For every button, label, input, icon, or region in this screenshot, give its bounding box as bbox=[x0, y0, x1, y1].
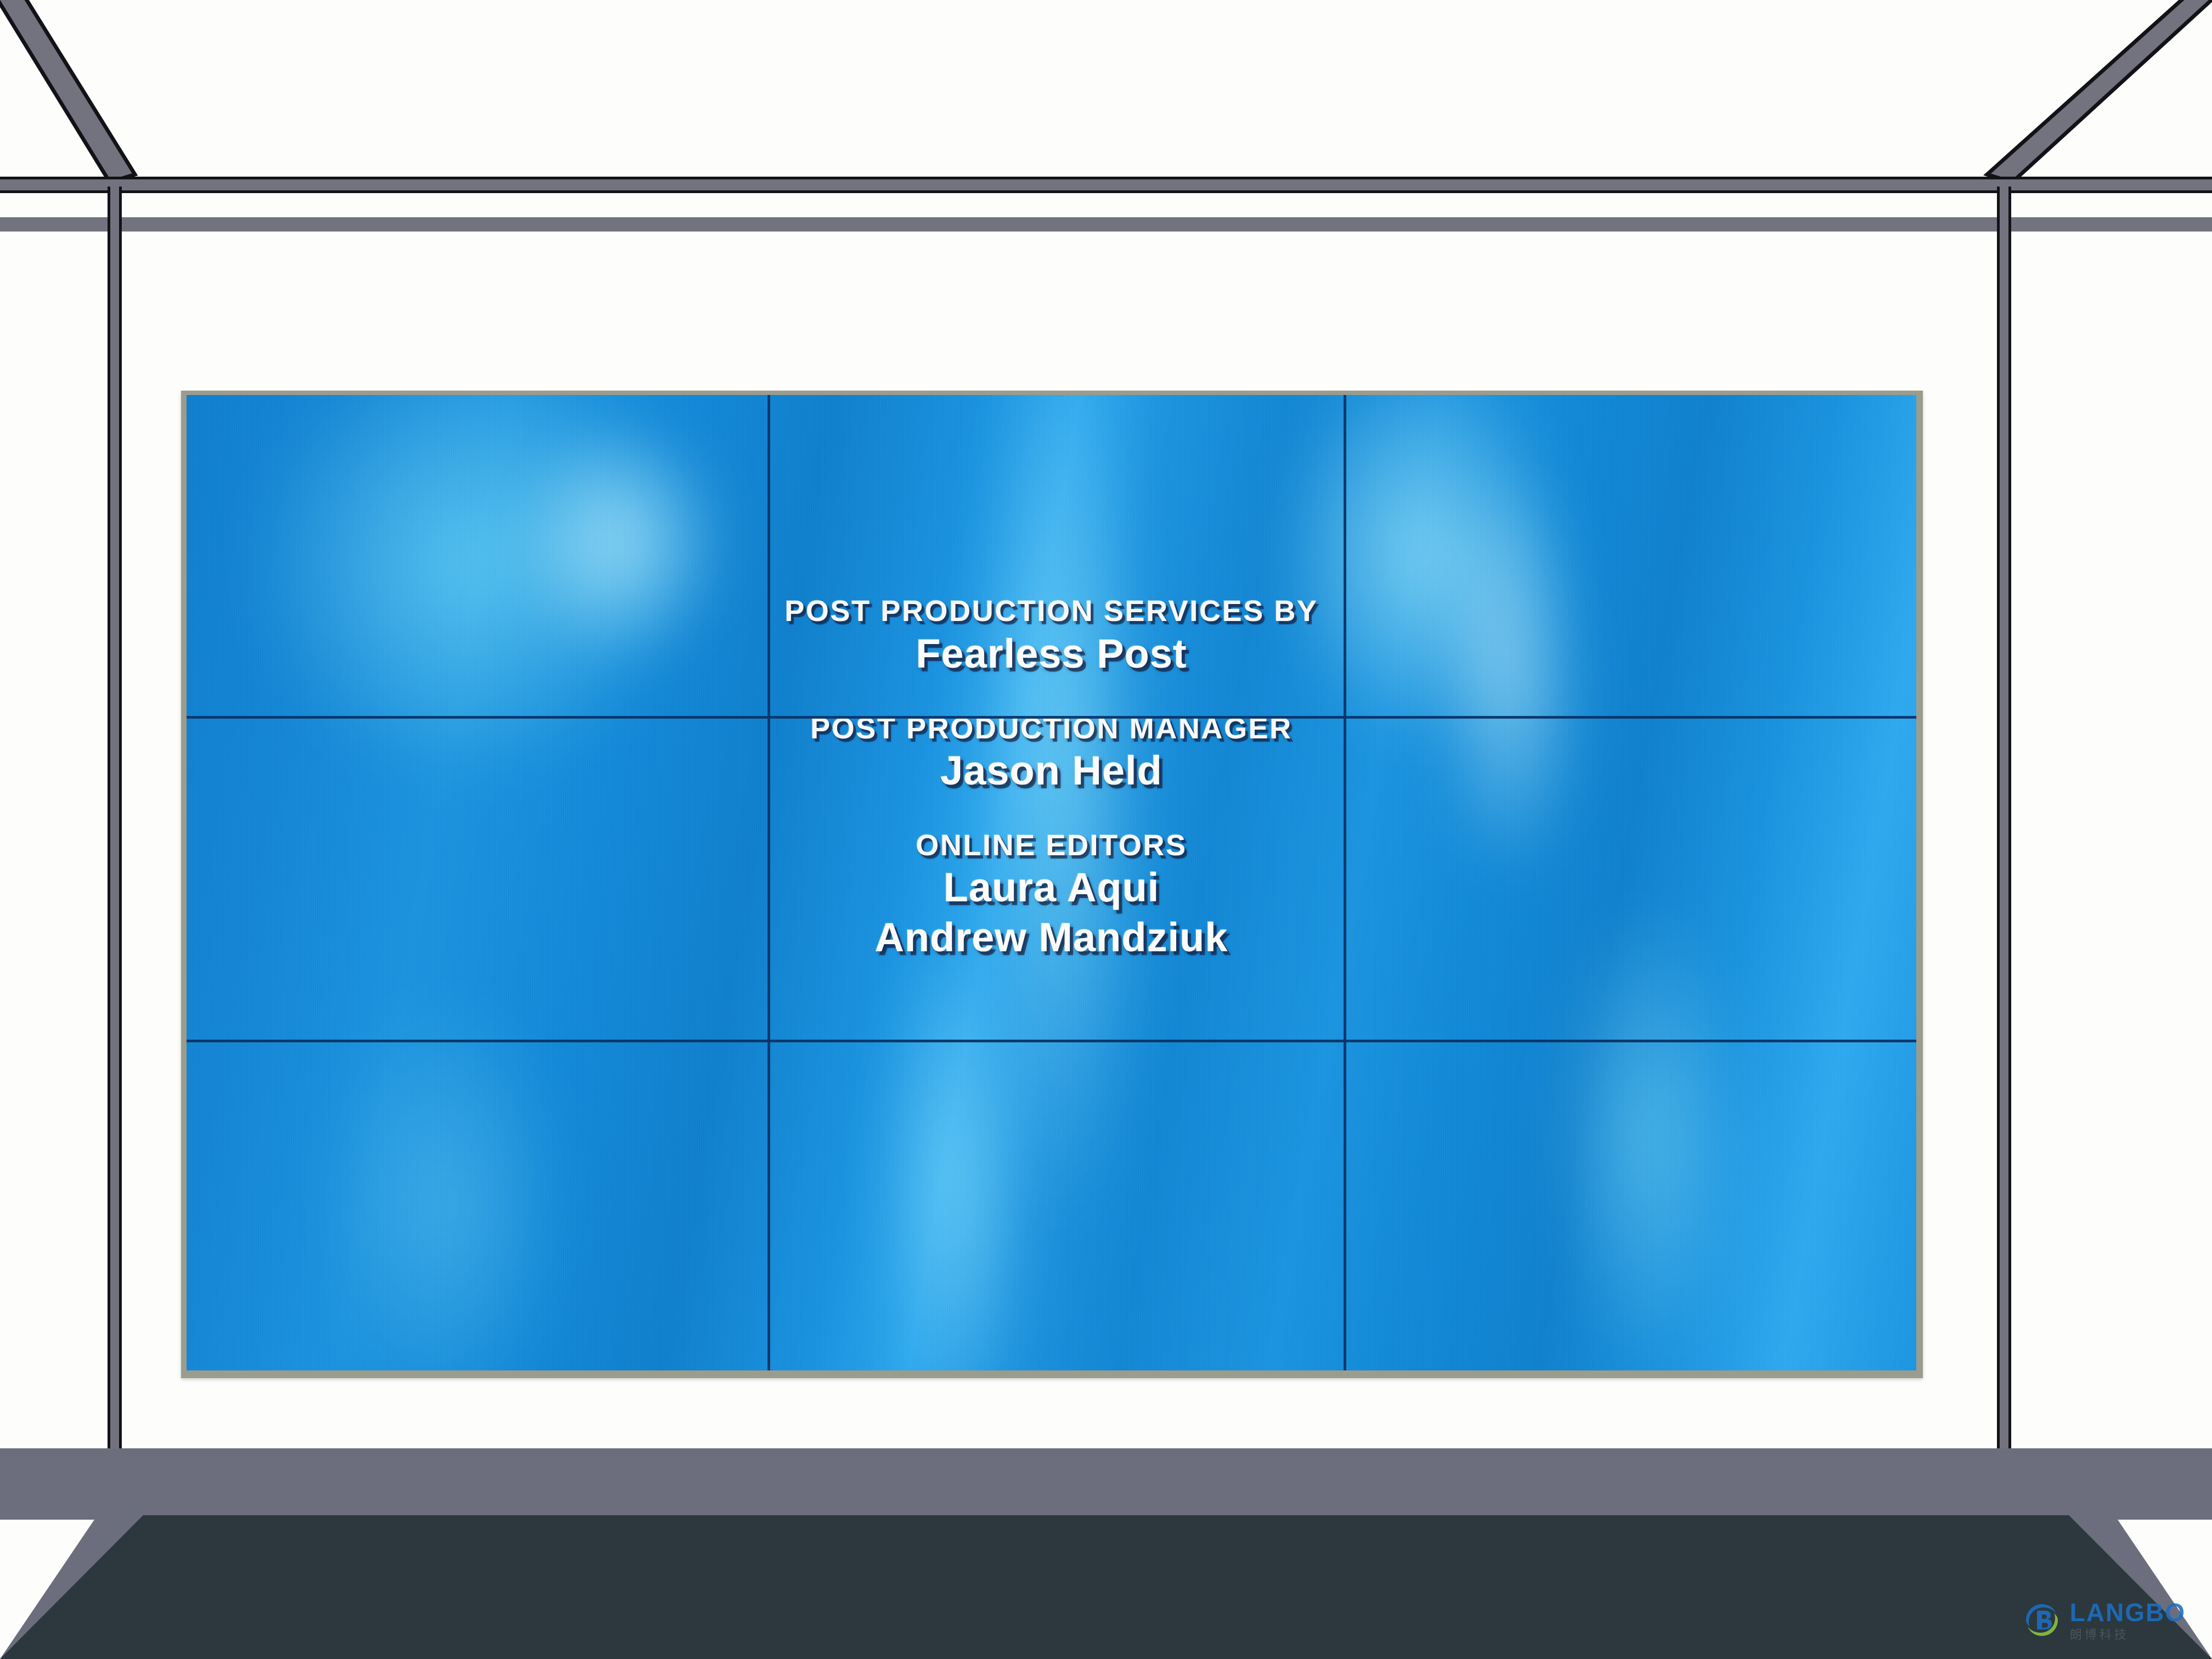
floor-baseboard bbox=[0, 1448, 2212, 1520]
watermark-brand: LANGBO bbox=[2070, 1600, 2186, 1625]
video-wall-display[interactable]: POST PRODUCTION SERVICES BY Fearless Pos… bbox=[187, 395, 1916, 1370]
floor-surface bbox=[0, 1515, 2212, 1659]
panel-seam-horizontal bbox=[187, 716, 1916, 719]
watermark: LANGBO 朗博科技 bbox=[2021, 1599, 2186, 1641]
panel-seam-horizontal bbox=[187, 1040, 1916, 1042]
wall-post-left bbox=[108, 187, 122, 1456]
watermark-text: LANGBO 朗博科技 bbox=[2070, 1600, 2186, 1641]
langbo-logo-icon bbox=[2021, 1599, 2063, 1641]
panel-seam-vertical bbox=[768, 395, 770, 1370]
room-scene: POST PRODUCTION SERVICES BY Fearless Pos… bbox=[0, 0, 2212, 1659]
watermark-subtitle: 朗博科技 bbox=[2070, 1629, 2186, 1641]
screen-banding-texture bbox=[187, 395, 1916, 1370]
wall-post-right bbox=[1997, 187, 2011, 1456]
ceiling-rail-beam bbox=[0, 177, 2212, 193]
ceiling-beam-right bbox=[1987, 0, 2212, 182]
ceiling-soffit-band bbox=[0, 217, 2212, 232]
video-wall-bezel[interactable]: POST PRODUCTION SERVICES BY Fearless Pos… bbox=[181, 391, 1923, 1378]
ceiling-beam-left bbox=[0, 0, 135, 182]
panel-seam-vertical bbox=[1344, 395, 1346, 1370]
